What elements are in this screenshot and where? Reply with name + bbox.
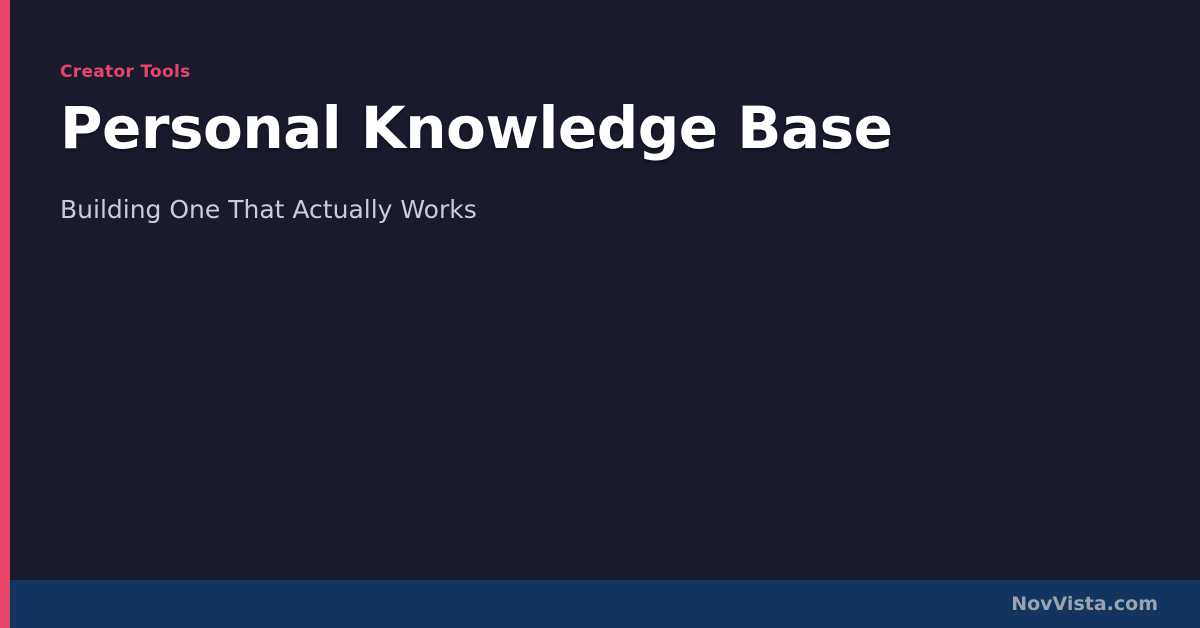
eyebrow-category-label: Creator Tools [60,61,191,83]
left-accent-bar [0,0,10,628]
footer-brand-label: NovVista.com [1011,592,1158,616]
footer-bar: NovVista.com [0,580,1200,628]
page-title: Personal Knowledge Base [60,94,892,162]
page-subtitle: Building One That Actually Works [60,194,477,226]
title-slide: Creator Tools Personal Knowledge Base Bu… [0,0,1200,628]
